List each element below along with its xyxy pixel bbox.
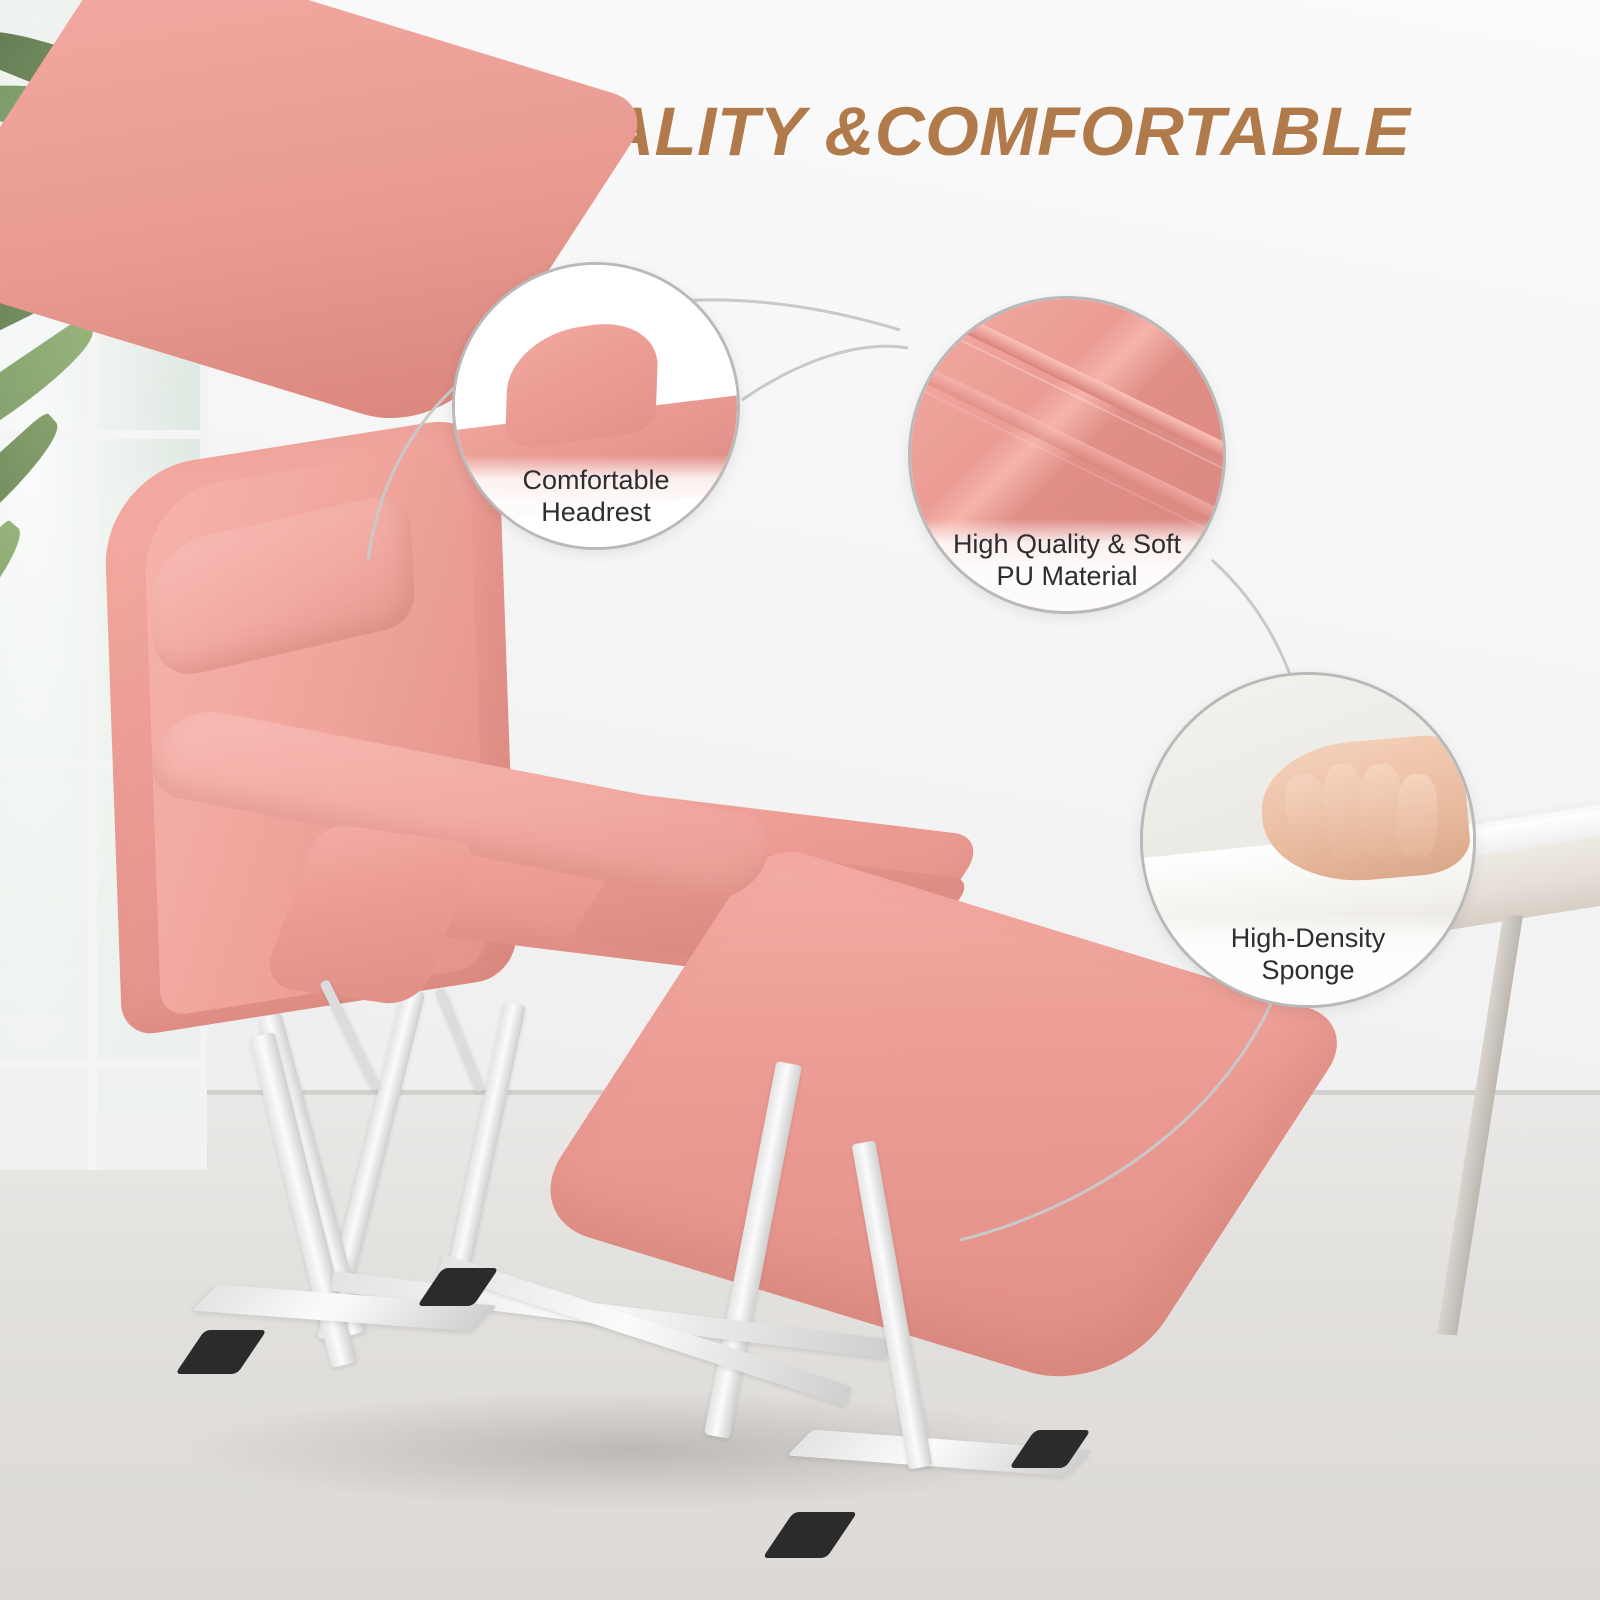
callout-bubble-headrest[interactable]: Comfortable Headrest — [452, 262, 740, 550]
callout-caption-line2: PU Material — [925, 561, 1209, 593]
callout-caption-pu-material: High Quality & Soft PU Material — [911, 519, 1223, 611]
callout-caption-line1: High Quality & Soft — [925, 529, 1209, 561]
callout-caption-headrest: Comfortable Headrest — [455, 455, 737, 547]
callout-caption-line2: Headrest — [469, 497, 723, 529]
recline-strut-2 — [435, 987, 485, 1093]
frame-foot-cap-left — [175, 1330, 267, 1374]
frame-foot-cap-right — [762, 1512, 857, 1558]
finger — [1396, 773, 1438, 857]
callout-caption-line2: Sponge — [1157, 955, 1459, 987]
product-image-scene: SUPERB QUALITY &COMFORTABLE — [0, 0, 1600, 1600]
callout-bubble-pu-material[interactable]: High Quality & Soft PU Material — [908, 296, 1226, 614]
callout-bubble-sponge[interactable]: High-Density Sponge — [1140, 672, 1476, 1008]
callout-caption-line1: Comfortable — [469, 465, 723, 497]
callout-caption-line1: High-Density — [1157, 923, 1459, 955]
callout-caption-sponge: High-Density Sponge — [1143, 913, 1473, 1005]
headrest-pad — [504, 316, 659, 452]
